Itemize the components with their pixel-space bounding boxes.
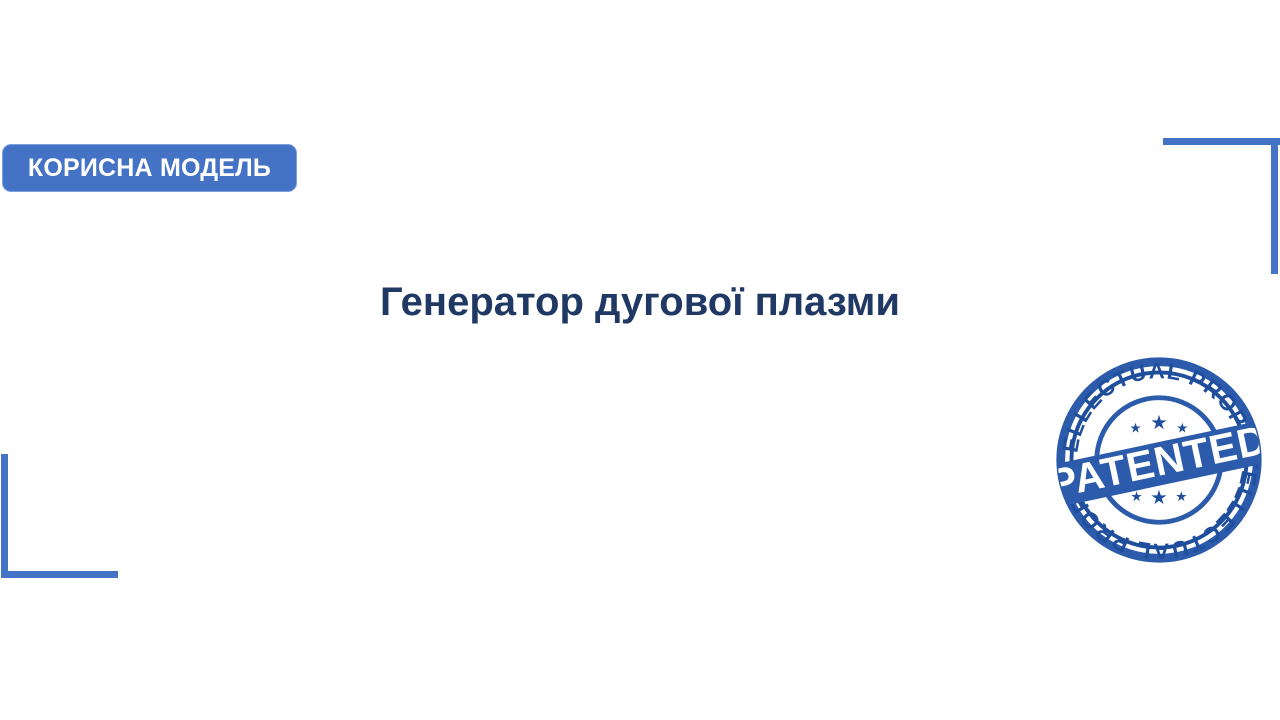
top-right-bracket-horizontal <box>1163 138 1280 145</box>
svg-text:★: ★ <box>1150 412 1167 434</box>
useful-model-badge-label: КОРИСНА МОДЕЛЬ <box>28 156 271 181</box>
bottom-left-bracket-vertical <box>1 454 8 578</box>
useful-model-badge[interactable]: КОРИСНА МОДЕЛЬ <box>2 144 297 192</box>
svg-text:★: ★ <box>1175 489 1187 504</box>
slide-canvas: КОРИСНА МОДЕЛЬ Генератор дугової плазми <box>0 0 1280 720</box>
svg-text:★: ★ <box>1130 421 1142 436</box>
stamp-stars-top: ★ ★ ★ <box>1130 412 1189 436</box>
svg-text:★: ★ <box>1150 487 1167 509</box>
patented-stamp: INTELLECTUAL PROPERTY INTELLECTUAL PROPE… <box>1052 344 1266 576</box>
patented-stamp-graphic: INTELLECTUAL PROPERTY INTELLECTUAL PROPE… <box>1052 344 1266 576</box>
bottom-left-bracket-horizontal <box>1 571 118 578</box>
top-right-bracket-vertical <box>1271 138 1278 274</box>
stamp-stars-bottom: ★ ★ ★ <box>1131 487 1188 509</box>
page-title: Генератор дугової плазми <box>0 278 1280 326</box>
